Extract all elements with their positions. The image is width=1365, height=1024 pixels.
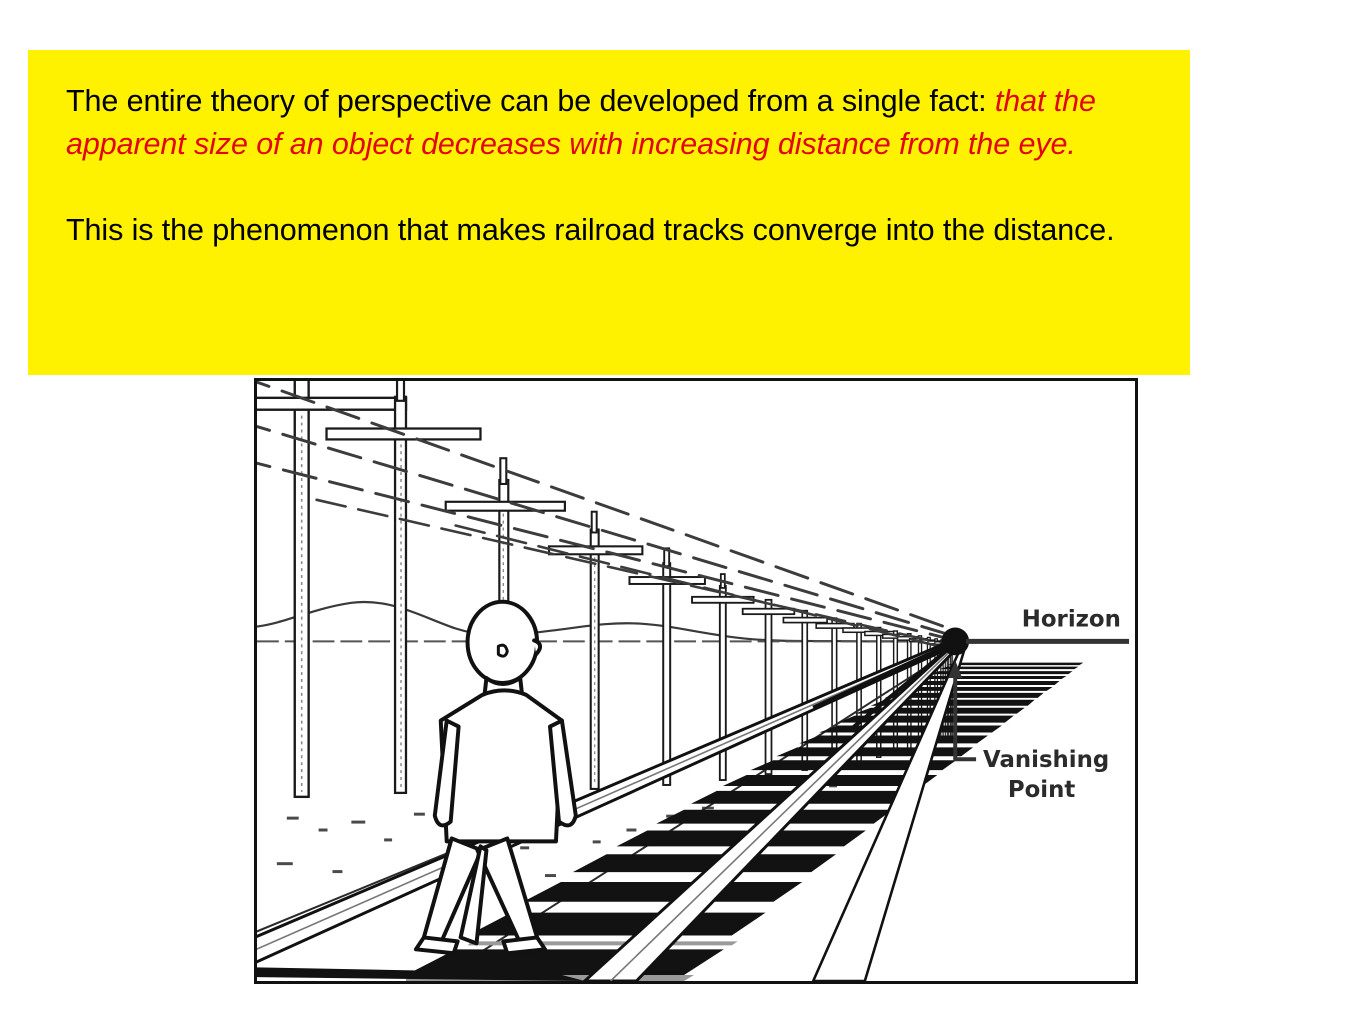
vanishing-point-dot xyxy=(941,628,969,656)
paragraph-one: The entire theory of perspective can be … xyxy=(66,80,1170,166)
vanishing-point-label-line2: Point xyxy=(1008,777,1076,803)
paragraph-spacer xyxy=(66,166,1170,209)
paragraph-two: This is the phenomenon that makes railro… xyxy=(66,209,1170,252)
perspective-illustration: Horizon Vanishing Point xyxy=(257,381,1135,981)
callout-text-block: The entire theory of perspective can be … xyxy=(66,80,1170,252)
vanishing-point-label-line1: Vanishing xyxy=(983,747,1109,773)
perspective-illustration-frame: Horizon Vanishing Point xyxy=(254,378,1138,984)
paragraph-one-lead: The entire theory of perspective can be … xyxy=(66,84,995,118)
horizon-label: Horizon xyxy=(1022,607,1121,633)
text-callout-box: The entire theory of perspective can be … xyxy=(28,50,1190,375)
